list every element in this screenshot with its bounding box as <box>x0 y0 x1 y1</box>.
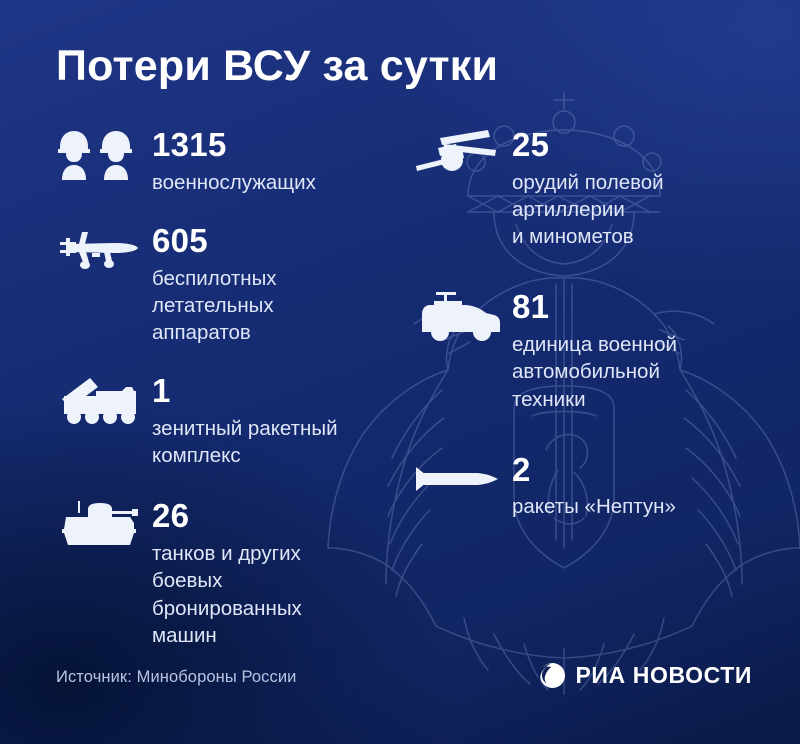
stat-item-drones: 605 беспилотных летательных аппаратов <box>52 224 382 346</box>
stat-value: 1315 <box>152 128 382 162</box>
stat-item-artillery: 25 орудий полевой артиллерии и минометов <box>412 128 742 250</box>
stat-label: орудий полевой артиллерии и минометов <box>512 169 742 251</box>
stats-column-right: 25 орудий полевой артиллерии и минометов <box>412 128 742 521</box>
stats-column-left: 1315 военнослужащих <box>52 128 382 649</box>
stat-value: 81 <box>512 290 742 324</box>
ria-spiral-icon <box>537 661 566 690</box>
ria-novosti-logo: РИА НОВОСТИ <box>537 661 752 690</box>
military-vehicle-icon <box>412 290 504 342</box>
stat-label: зенитный ракетный комплекс <box>152 415 382 470</box>
stat-value: 25 <box>512 128 742 162</box>
stat-item-vehicles: 81 единица военной автомобильной техники <box>412 290 742 412</box>
stat-value: 2 <box>512 453 742 487</box>
page-title: Потери ВСУ за сутки <box>56 42 498 91</box>
tank-icon <box>52 499 144 551</box>
stat-value: 605 <box>152 224 382 258</box>
stat-label: военнослужащих <box>152 169 382 196</box>
ria-novosti-wordmark: РИА НОВОСТИ <box>575 662 752 689</box>
stat-item-missiles: 2 ракеты «Нептун» <box>412 453 742 521</box>
stat-value: 26 <box>152 499 382 533</box>
soldiers-icon <box>52 128 144 180</box>
stat-item-personnel: 1315 военнослужащих <box>52 128 382 196</box>
stat-value: 1 <box>152 374 382 408</box>
air-defense-system-icon <box>52 374 144 426</box>
stat-label: танков и других боевых бронированных маш… <box>152 540 382 649</box>
stat-item-tanks: 26 танков и других боевых бронированных … <box>52 499 382 649</box>
stat-label: ракеты «Нептун» <box>512 493 742 520</box>
stat-item-air-defense: 1 зенитный ракетный комплекс <box>52 374 382 469</box>
drone-icon <box>52 224 144 276</box>
missile-icon <box>412 453 504 505</box>
field-artillery-icon <box>412 128 504 180</box>
source-note: Источник: Минобороны России <box>56 668 296 687</box>
infographic-poster: Потери ВСУ за сутки 1315 военнослужащих <box>0 0 800 744</box>
stat-label: беспилотных летательных аппаратов <box>152 265 382 347</box>
stat-label: единица военной автомобильной техники <box>512 331 742 413</box>
